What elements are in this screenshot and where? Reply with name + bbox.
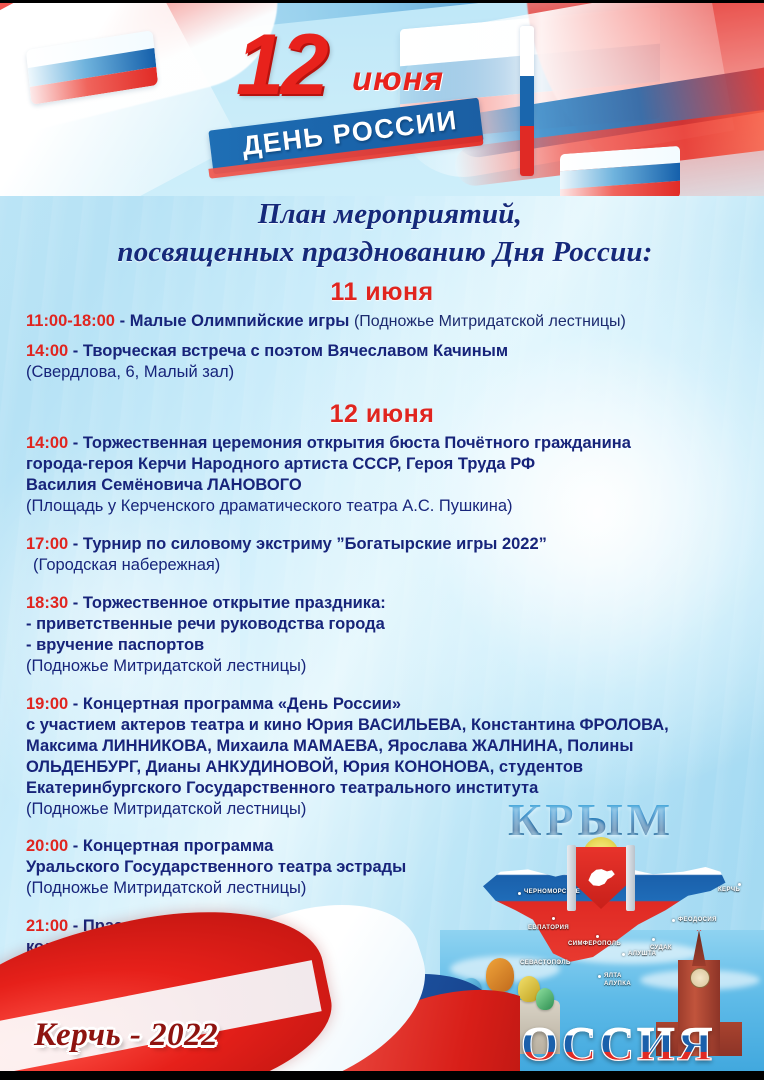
map-city-dot [596, 935, 599, 938]
event-item: 18:30 - Торжественное открытие праздника… [26, 593, 738, 677]
event-name: Турнир по силовому экстриму ”Богатырские… [83, 535, 547, 553]
event-time: 19:00 [26, 695, 68, 713]
emblem-column-left [567, 845, 576, 911]
event-line: 19:00 - Концертная программа «День Росси… [26, 694, 738, 715]
page-title: План мероприятий, посвященных празднован… [0, 196, 764, 271]
event-name-cont: Василия Семёновича ЛАНОВОГО [26, 475, 738, 496]
event-time: 11:00-18:00 [26, 312, 115, 330]
map-city-dot [518, 892, 521, 895]
event-item: 14:00 - Творческая встреча с поэтом Вяче… [26, 341, 738, 383]
map-city-dot [622, 953, 625, 956]
event-line: 14:00 - Торжественная церемония открытия… [26, 433, 738, 454]
event-time: 17:00 [26, 535, 68, 553]
map-city-label: АЛУПКА [604, 981, 631, 987]
map-city-label: ФЕОДОСИЯ [678, 917, 717, 923]
frame-border-bottom [0, 1071, 764, 1080]
event-name: Творческая встреча с поэтом Вячеславом К… [83, 342, 508, 360]
onion-dome [536, 988, 554, 1010]
event-line: 18:30 - Торжественное открытие праздника… [26, 593, 738, 614]
event-venue: (Подножье Митридатской лестницы) [26, 656, 738, 677]
poster-canvas: 12 июня ДЕНЬ РОССИИ План мероприятий, по… [0, 0, 764, 1080]
event-subitem: - приветственные речи руководства города [26, 614, 738, 635]
date-heading-12: 12 июня [26, 400, 738, 429]
title-line-1: План мероприятий, [0, 196, 764, 234]
event-item: 14:00 - Торжественная церемония открытия… [26, 433, 738, 517]
map-city-dot [738, 883, 741, 886]
event-venue: (Свердлова, 6, Малый зал) [26, 362, 738, 383]
map-city-label: СУДАК [650, 945, 672, 951]
event-subitem: - вручение паспортов [26, 635, 738, 656]
event-time: 18:30 [26, 594, 68, 612]
event-name: Малые Олимпийские игры [130, 312, 350, 330]
event-name: Торжественное открытие праздника: [83, 594, 386, 612]
event-venue: (Подножье Митридатской лестницы) [354, 313, 626, 330]
city-year-label: Керчь - 2022 [34, 1017, 218, 1054]
event-time: 14:00 [26, 342, 68, 360]
event-name: Концертная программа «День России» [83, 695, 401, 713]
event-time: 20:00 [26, 837, 68, 855]
map-city-label: ЕВПАТОРИЯ [528, 925, 569, 931]
map-city-label: КЕРЧЬ [718, 887, 740, 893]
event-dash: - [73, 695, 79, 713]
holiday-wordmark: 12 июня ДЕНЬ РОССИИ [236, 22, 536, 172]
map-city-dot [552, 917, 555, 920]
event-dash: - [73, 535, 79, 553]
event-dash: - [73, 342, 79, 360]
date-heading-11: 11 июня [26, 278, 738, 307]
event-name: Торжественная церемония открытия бюста П… [83, 434, 631, 452]
event-item: 17:00 - Турнир по силовому экстриму ”Бог… [26, 534, 738, 576]
event-dash: - [73, 594, 79, 612]
event-name: Концертная программа [83, 837, 273, 855]
frame-border-top [0, 0, 764, 3]
map-city-dot [652, 938, 655, 941]
map-city-label: СИМФЕРОПОЛЬ [568, 941, 621, 947]
map-city-label: АЛУШТА [628, 951, 656, 957]
map-city-label: СЕВАСТОПОЛЬ [520, 960, 571, 966]
event-time: 14:00 [26, 434, 68, 452]
event-name-cont: города-героя Керчи Народного артиста ССС… [26, 454, 738, 475]
emblem-column-right [626, 845, 635, 911]
event-venue: (Площадь у Керченского драматического те… [26, 496, 738, 517]
map-city-dot [598, 975, 601, 978]
title-line-2: посвященных празднованию Дня России: [0, 234, 764, 272]
header-banner: 12 июня ДЕНЬ РОССИИ [0, 0, 764, 196]
crimea-coat-of-arms [570, 837, 632, 917]
event-name-cont: с участием актеров театра и кино Юрия ВА… [26, 715, 738, 736]
event-line: 14:00 - Творческая встреча с поэтом Вяче… [26, 341, 738, 362]
event-venue: (Городская набережная) [26, 555, 738, 576]
event-line: 11:00-18:00 - Малые Олимпийские игры (По… [26, 311, 738, 332]
event-name-cont: Максима ЛИННИКОВА, Михаила МАМАЕВА, Ярос… [26, 736, 738, 757]
month-label: июня [352, 60, 444, 98]
event-dash: - [120, 312, 126, 330]
event-name-cont: ОЛЬДЕНБУРГ, Дианы АНКУДИНОВОЙ, Юрия КОНО… [26, 757, 738, 778]
event-dash: - [73, 434, 79, 452]
event-line: 17:00 - Турнир по силовому экстриму ”Бог… [26, 534, 738, 555]
map-city-label: ЯЛТА [604, 973, 622, 979]
russian-flag-card-right [560, 146, 680, 196]
day-number: 12 [236, 22, 326, 108]
map-city-dot [672, 919, 675, 922]
event-dash: - [73, 837, 79, 855]
event-item: 11:00-18:00 - Малые Олимпийские игры (По… [26, 311, 738, 332]
